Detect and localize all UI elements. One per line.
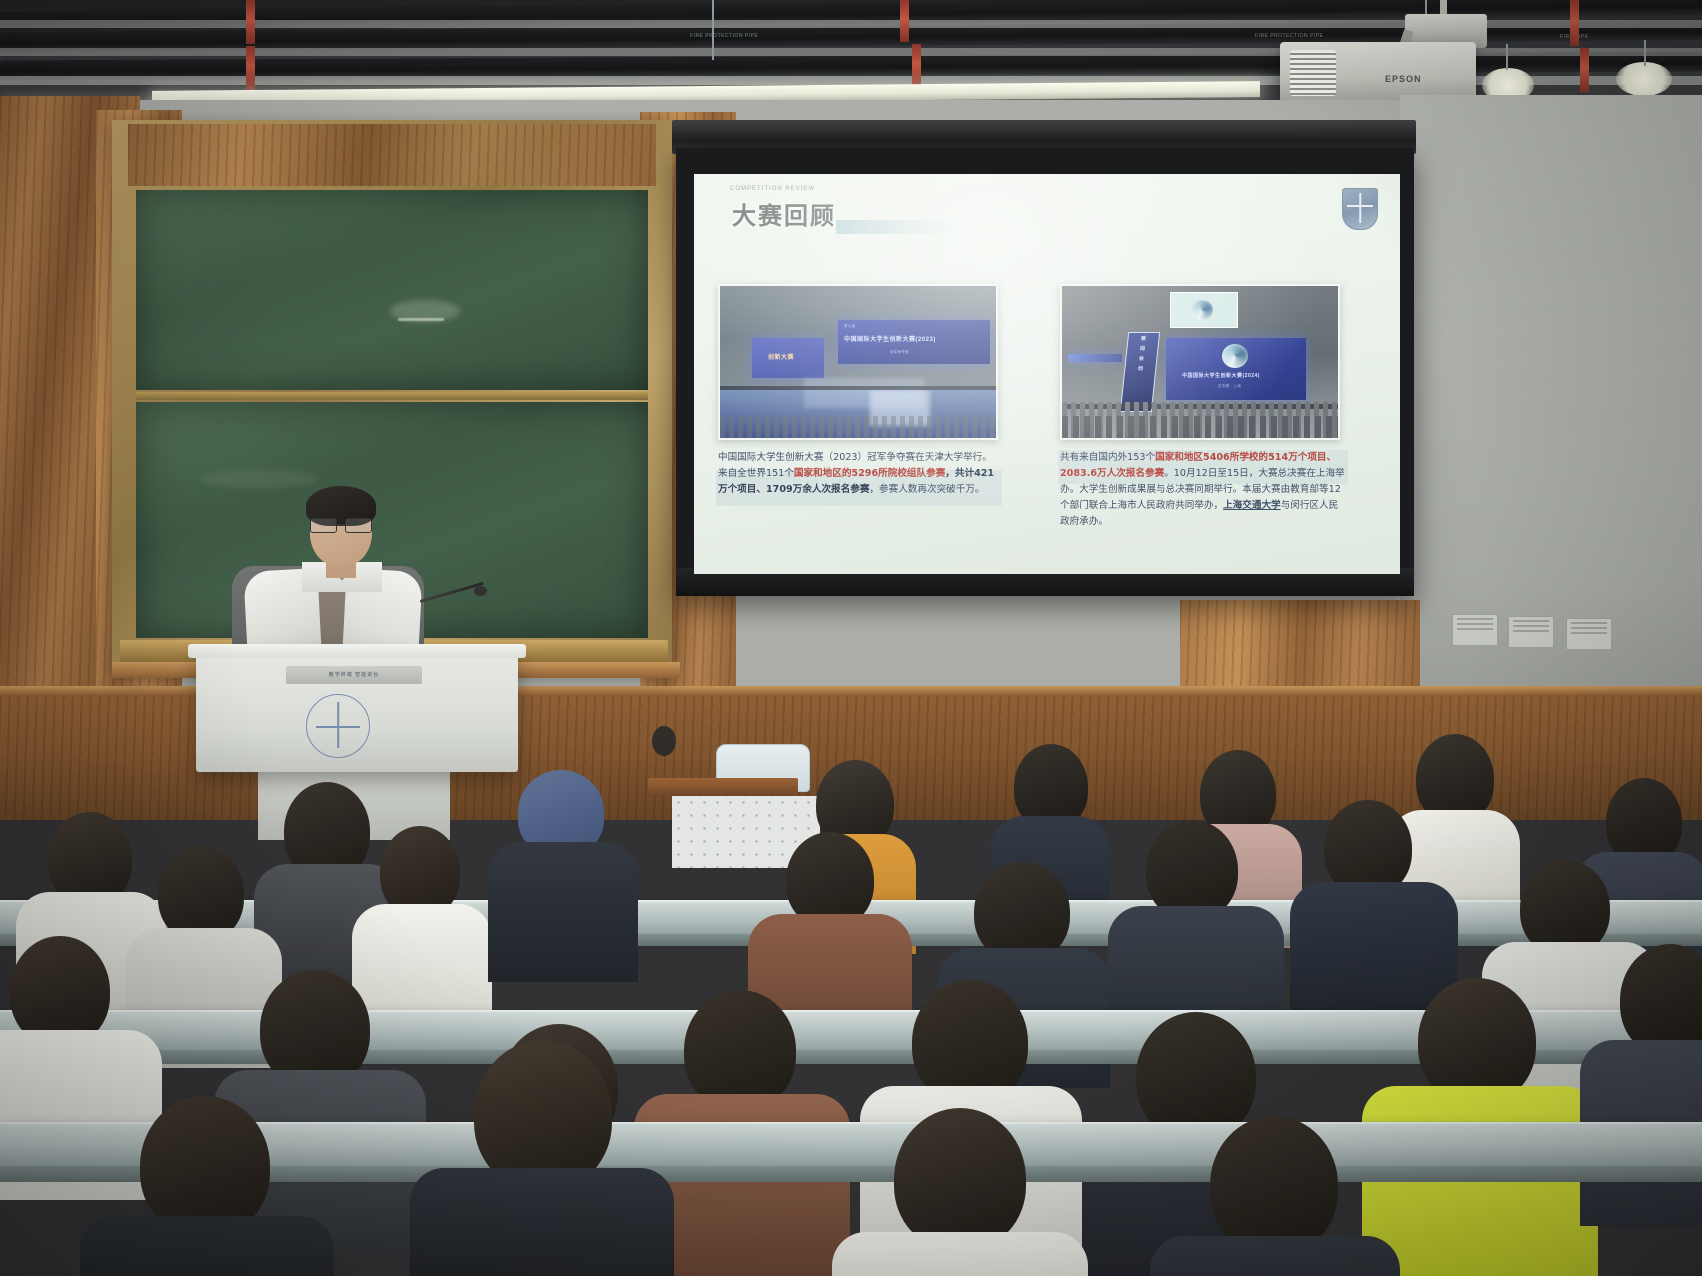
lamp-rod-1 (1506, 44, 1508, 70)
text-right-seg-0: 共有来自国内外153个 (1060, 452, 1155, 463)
text-left-seg-3: ，参赛人数再次突破千万。 (869, 484, 984, 495)
pipe-hanger-6 (1580, 48, 1589, 92)
photo-left-led-headline: 中国国际大学生创新大赛(2023) (844, 334, 936, 343)
opening-ceremony-venue-photo: 中国国际大学生创新大赛(2024) 总决赛 · 上海 敢闯会创 (1060, 284, 1340, 440)
slide-title-underline-bar (836, 220, 952, 234)
pipe-hanger-4 (912, 44, 921, 88)
lectern-nameplate: 教学终端 智能讲台 (286, 666, 422, 684)
wall-sign-1 (1452, 614, 1498, 646)
wall-sign-3 (1566, 618, 1612, 650)
side-table-top (648, 778, 798, 794)
ceiling-rod-1 (712, 0, 714, 60)
slide-title-eyebrow: COMPETITION REVIEW (730, 186, 815, 192)
photo-right-led-screen: 中国国际大学生创新大赛(2024) 总决赛 · 上海 (1166, 338, 1306, 400)
slide-text-right: 共有来自国内外153个国家和地区5406所学校的514万个项目、2083.6万人… (1060, 450, 1346, 530)
award-ceremony-stage-photo: 第九届 中国国际大学生创新大赛(2023) 冠军争夺赛 创新大赛 (718, 284, 998, 440)
slide-text-left: 中国国际大学生创新大赛（2023）冠军争夺赛在天津大学举行。来自全世界151个国… (718, 450, 1000, 498)
text-right-seg-3: 上海交通大学 (1223, 500, 1281, 511)
projector-vent-grille (1290, 50, 1336, 96)
lectern-desktop (188, 644, 526, 658)
pipe-label-2: FIRE PROTECTION PIPE (1255, 33, 1323, 39)
text-left-seg-1: 国家和地区的5296所院校组队参赛 (794, 468, 945, 479)
ceiling-lamp-2 (1616, 62, 1672, 96)
photo-left-badge: 创新大赛 (768, 352, 794, 361)
chalkboard-top-trim (128, 124, 656, 186)
photo-left-side-led: 创新大赛 (752, 338, 824, 378)
pipe-label-1: FIRE PROTECTION PIPE (690, 33, 758, 39)
wall-speaker-knob (652, 726, 676, 756)
photo-right-led-headline: 中国国际大学生创新大赛(2024) (1182, 372, 1260, 379)
lamp-rod-2 (1644, 40, 1646, 66)
university-seal-emblem (306, 694, 370, 758)
pipe-hanger-3 (900, 0, 909, 42)
photo-left-led-subline: 冠军争夺赛 (890, 350, 909, 355)
chalkboard-divider (136, 392, 648, 400)
photo-right-top-screen (1170, 292, 1238, 328)
chalk-mark-1 (398, 318, 444, 321)
slide-title: 大赛回顾 (732, 196, 836, 231)
microphone-capsule (474, 586, 487, 596)
projector-brand-label: EPSON (1385, 74, 1422, 84)
wall-sign-2 (1508, 616, 1554, 648)
pipe-hanger-1 (246, 0, 255, 44)
photo-right-ticker (1068, 354, 1122, 362)
lecture-hall-scene: FIRE PROTECTION PIPE FIRE PROTECTION PIP… (0, 0, 1702, 1276)
chalkboard-surface-upper (136, 190, 648, 390)
pipe-hanger-2 (246, 46, 255, 90)
presenter-glasses (310, 518, 372, 531)
university-crest-logo (1342, 188, 1376, 228)
pipe-hanger-5 (1570, 0, 1579, 46)
chalk-smudge-2 (200, 470, 320, 488)
presentation-slide: COMPETITION REVIEW 大赛回顾 第九届 中国国际大学生创新大赛(… (694, 174, 1400, 574)
photo-left-led-screen: 第九届 中国国际大学生创新大赛(2023) 冠军争夺赛 (838, 320, 990, 364)
lectern-nameplate-text: 教学终端 智能讲台 (286, 671, 422, 678)
